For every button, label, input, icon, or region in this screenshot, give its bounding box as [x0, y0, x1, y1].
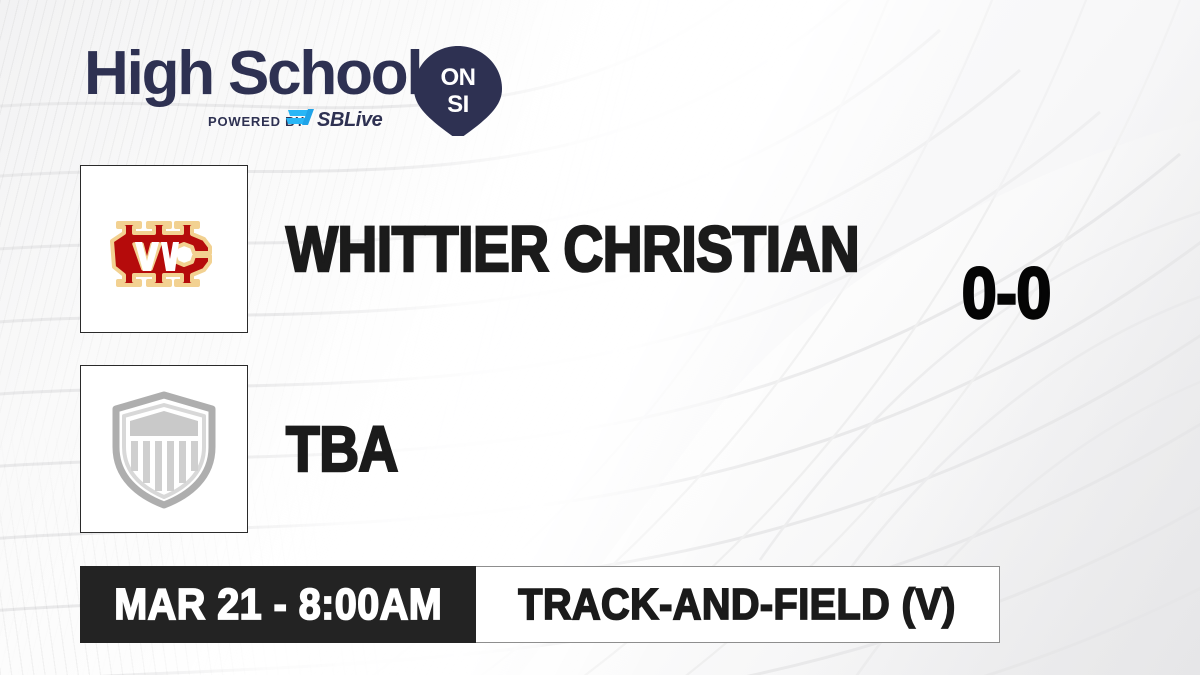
- brand-wordmark: High School: [84, 39, 421, 108]
- score-value: 0-0: [962, 258, 1051, 330]
- team-logo-box-away: [80, 365, 248, 533]
- game-details-bar: MAR 21 - 8:00AM TRACK-AND-FIELD (V): [80, 566, 1000, 643]
- game-sport-block: TRACK-AND-FIELD (V): [476, 566, 999, 643]
- placeholder-shield-icon: [108, 389, 220, 509]
- onsi-pin-icon: ON SI: [414, 46, 502, 136]
- team-row-away: TBA: [80, 365, 416, 533]
- pin-top-label: ON: [441, 64, 476, 91]
- matchup-graphic: High School ON SI POWERED BY SBLive: [0, 0, 1200, 675]
- game-sport-label: TRACK-AND-FIELD (V): [519, 583, 956, 627]
- pin-bottom-label: SI: [447, 91, 469, 118]
- game-datetime-label: MAR 21 - 8:00AM: [114, 583, 442, 627]
- team-name-away: TBA: [286, 417, 398, 481]
- score-display: 0-0: [0, 258, 1200, 330]
- sblive-wordmark: SBLive: [317, 109, 383, 131]
- brand-header: High School ON SI POWERED BY SBLive: [84, 36, 514, 136]
- game-datetime-block: MAR 21 - 8:00AM: [80, 566, 476, 643]
